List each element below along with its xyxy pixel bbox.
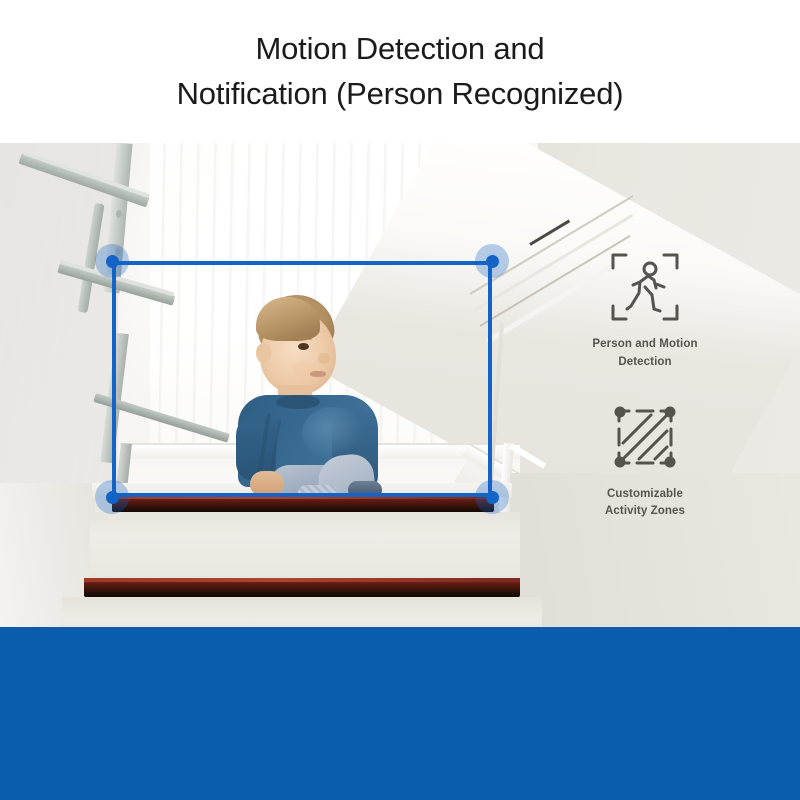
feature-label: Person and Motion Detection [560,336,730,372]
zone-handle-top-left[interactable] [95,244,129,278]
handrail-screw [116,210,122,218]
bottom-banner: Control what alerts you receive by creat… [0,627,800,800]
feature-label: Customizable Activity Zones [560,486,730,522]
activity-zone-rectangle[interactable] [112,261,492,497]
person-motion-detection-icon [560,248,730,326]
page-title: Motion Detection and Notification (Perso… [177,27,624,115]
feature-person-motion-detection: Person and Motion Detection [560,248,730,372]
feature-customizable-activity-zones: Customizable Activity Zones [560,398,730,522]
zone-handle-bottom-left[interactable] [95,480,129,514]
zone-handle-bottom-right[interactable] [475,480,509,514]
customizable-activity-zones-icon [560,398,730,476]
feature-graphic: Motion Detection and Notification (Perso… [0,0,800,800]
feature-list: Person and Motion Detection [560,248,730,547]
stair-tread [90,512,520,578]
zone-handle-top-right[interactable] [475,244,509,278]
stair-tread [62,597,542,627]
stair-nosing-highlight [84,578,520,582]
header: Motion Detection and Notification (Perso… [0,0,800,143]
photo-stage: Person and Motion Detection [0,143,800,627]
